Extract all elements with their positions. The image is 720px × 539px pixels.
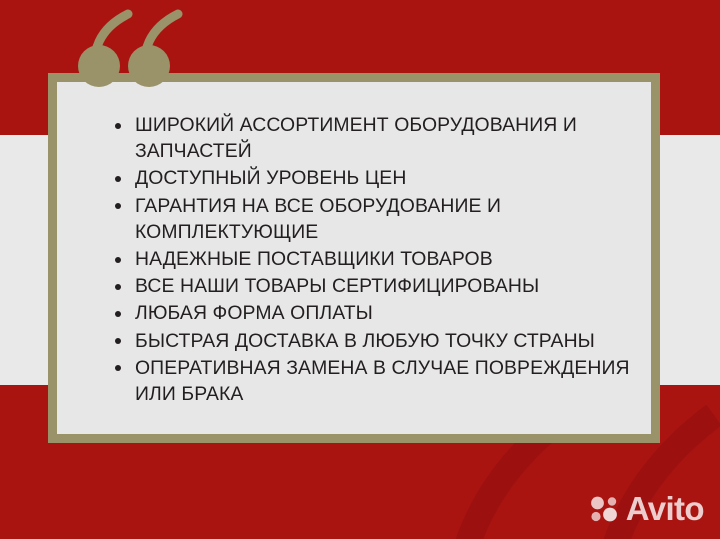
avito-dots-icon bbox=[589, 496, 619, 522]
avito-wordmark: Avito bbox=[626, 492, 704, 525]
list-item: ШИРОКИЙ АССОРТИМЕНТ ОБОРУДОВАНИЯ И ЗАПЧА… bbox=[109, 112, 633, 164]
slide-canvas: ШИРОКИЙ АССОРТИМЕНТ ОБОРУДОВАНИЯ И ЗАПЧА… bbox=[0, 0, 720, 539]
list-item: ГАРАНТИЯ НА ВСЕ ОБОРУДОВАНИЕ И КОМПЛЕКТУ… bbox=[109, 193, 633, 245]
list-item: ДОСТУПНЫЙ УРОВЕНЬ ЦЕН bbox=[109, 165, 633, 191]
list-item: НАДЕЖНЫЕ ПОСТАВЩИКИ ТОВАРОВ bbox=[109, 246, 633, 272]
quote-card: ШИРОКИЙ АССОРТИМЕНТ ОБОРУДОВАНИЯ И ЗАПЧА… bbox=[48, 73, 660, 443]
list-item: БЫСТРАЯ ДОСТАВКА В ЛЮБУЮ ТОЧКУ СТРАНЫ bbox=[109, 328, 633, 354]
benefits-list: ШИРОКИЙ АССОРТИМЕНТ ОБОРУДОВАНИЯ И ЗАПЧА… bbox=[109, 112, 633, 408]
list-item: ЛЮБАЯ ФОРМА ОПЛАТЫ bbox=[109, 300, 633, 326]
list-item: ВСЕ НАШИ ТОВАРЫ СЕРТИФИЦИРОВАНЫ bbox=[109, 273, 633, 299]
list-item: ОПЕРАТИВНАЯ ЗАМЕНА В СЛУЧАЕ ПОВРЕЖДЕНИЯ … bbox=[109, 355, 633, 407]
avito-watermark: Avito bbox=[589, 492, 704, 525]
